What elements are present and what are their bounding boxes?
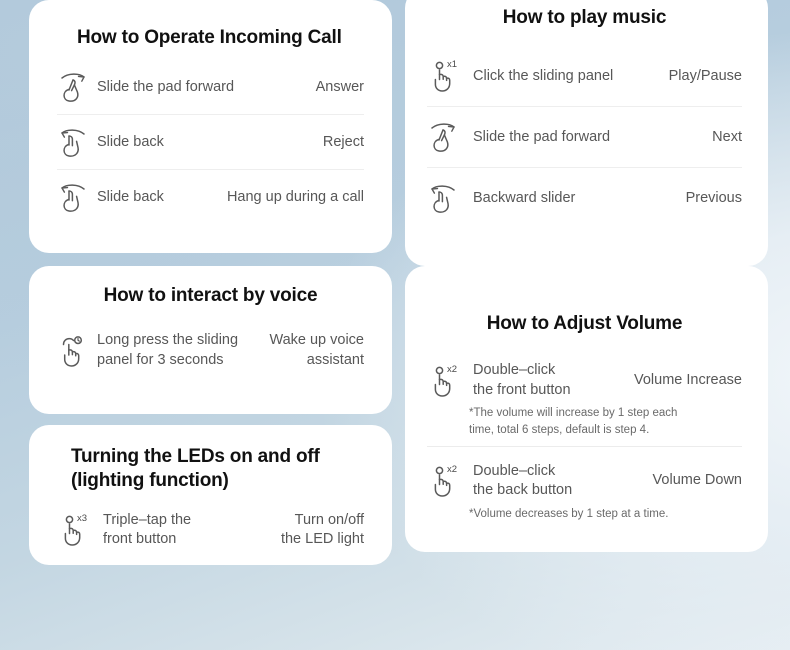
tap-icon: x1 [427,58,467,94]
gesture-description: Long press the sliding panel for 3 secon… [97,331,253,370]
gesture-row: Slide back Reject [57,114,364,169]
gesture-action: Answer [316,78,364,98]
tap-icon: x2 [427,363,467,399]
gesture-action: Hang up during a call [227,188,364,208]
slide-back-icon [427,180,467,216]
gesture-row: x2 Double–click the back button Volume D… [427,453,742,510]
gesture-row: x3 Triple–tap the front button Turn on/o… [57,502,364,559]
gesture-footnote: *Volume decreases by 1 step at a time. [469,506,742,522]
slide-back-icon [57,179,91,215]
row-list-play-music: x1 Click the sliding panel Play/Pause Sl… [427,46,742,228]
gesture-action: Wake up voice assistant [269,331,364,370]
gesture-description: Slide the pad forward [97,78,300,98]
gesture-row: Slide back Hang up during a call [57,169,364,224]
gesture-action: Volume Increase [634,371,742,391]
gesture-footnote: *The volume will increase by 1 step each… [469,405,742,437]
card-title-play-music: How to play music [427,6,742,30]
row-list-incoming-call: Slide the pad forward Answer Slide back … [57,60,364,224]
row-list-adjust-volume: x2 Double–click the front button Volume … [427,352,742,522]
tap-count-badge: x3 [77,513,87,524]
gesture-row: Slide the pad forward Next [427,106,742,167]
gesture-description: Double–click the back button [473,462,637,501]
tap-icon: x3 [57,512,97,548]
row-list-voice-interaction: Long press the sliding panel for 3 secon… [57,322,364,379]
instruction-card-grid: How to Operate Incoming Call Slide the p… [0,0,790,650]
gesture-description: Slide back [97,133,307,153]
gesture-action: Reject [323,133,364,153]
tap-count-badge: x2 [447,364,457,375]
gesture-action: Turn on/off the LED light [281,511,364,550]
tap-icon: x2 [427,463,467,499]
gesture-description: Triple–tap the front button [103,511,265,550]
gesture-description: Slide back [97,188,211,208]
gesture-action: Next [712,128,742,148]
card-title-incoming-call: How to Operate Incoming Call [57,26,364,50]
gesture-description: Double–click the front button [473,361,618,400]
gesture-action: Volume Down [653,471,742,491]
tap-count-badge: x2 [447,464,457,475]
gesture-row: x2 Double–click the front button Volume … [427,352,742,409]
gesture-row: x1 Click the sliding panel Play/Pause [427,46,742,106]
card-incoming-call: How to Operate Incoming Call Slide the p… [29,0,392,253]
card-title-adjust-volume: How to Adjust Volume [427,312,742,336]
slide-back-icon [57,124,91,160]
card-title-voice-interaction: How to interact by voice [57,284,364,308]
card-title-led-lighting: Turning the LEDs on and off (lighting fu… [57,445,364,494]
gesture-description: Backward slider [473,189,670,209]
card-play-music: How to play music x1 Click the sliding p… [405,0,768,266]
gesture-row: Long press the sliding panel for 3 secon… [57,322,364,379]
gesture-description: Click the sliding panel [473,67,653,87]
card-voice-interaction: How to interact by voice Long press the … [29,266,392,414]
slide-forward-icon [427,119,467,155]
gesture-row: Backward slider Previous [427,167,742,228]
row-list-led-lighting: x3 Triple–tap the front button Turn on/o… [57,502,364,559]
gesture-row: Slide the pad forward Answer [57,60,364,114]
row-divider [427,446,742,447]
gesture-description: Slide the pad forward [473,128,696,148]
gesture-action: Play/Pause [669,67,742,87]
tap-count-badge: x1 [447,59,457,70]
card-led-lighting: Turning the LEDs on and off (lighting fu… [29,425,392,565]
slide-forward-icon [57,69,91,105]
gesture-action: Previous [686,189,742,209]
card-adjust-volume: How to Adjust Volume x2 Double–click the… [405,266,768,552]
long-press-icon [57,333,91,369]
